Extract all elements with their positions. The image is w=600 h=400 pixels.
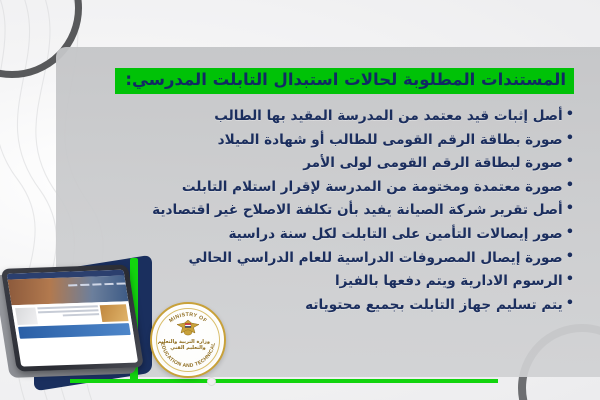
tablet-device [0, 264, 149, 379]
list-item: صورة معتمدة ومختومة من المدرسة لإقرار اس… [40, 175, 574, 199]
screen-row [15, 304, 128, 325]
screen-thumbnail [100, 304, 129, 322]
screen-text-lines [37, 305, 100, 324]
seal-arabic-line-2: والتعليم الفني [170, 345, 206, 351]
tablet-screen [7, 270, 139, 367]
screen-thumbnail [15, 307, 38, 324]
list-item: أصل إثبات قيد معتمد من المدرسة المقيد به… [40, 104, 574, 128]
infographic-canvas: المستندات المطلوبة لحالات استبدال التابل… [0, 0, 600, 400]
accent-baseline-horizontal [70, 379, 498, 383]
eagle-emblem-icon [175, 319, 201, 339]
ministry-of-education-seal: MINISTRY OF EDUCATION AND TECHNICAL وزار… [150, 302, 226, 378]
artwork-group: MINISTRY OF EDUCATION AND TECHNICAL وزار… [0, 240, 270, 400]
accent-dot [207, 377, 216, 386]
tablet-shell [1, 265, 144, 372]
list-item: صورة لبطاقة الرقم القومى لولى الأمر [40, 151, 574, 175]
screen-content [12, 301, 135, 342]
screen-card [18, 323, 131, 339]
seal-arabic-text: وزارة التربية والتعليم والتعليم الفني [166, 340, 210, 351]
list-item: صورة بطاقة الرقم القومى للطالب أو شهادة … [40, 128, 574, 152]
page-title-text: المستندات المطلوبة لحالات استبدال التابل… [125, 71, 566, 90]
page-title: المستندات المطلوبة لحالات استبدال التابل… [115, 68, 574, 94]
list-item: أصل تقرير شركة الصيانة يفيد بأن تكلفة ال… [40, 198, 574, 222]
